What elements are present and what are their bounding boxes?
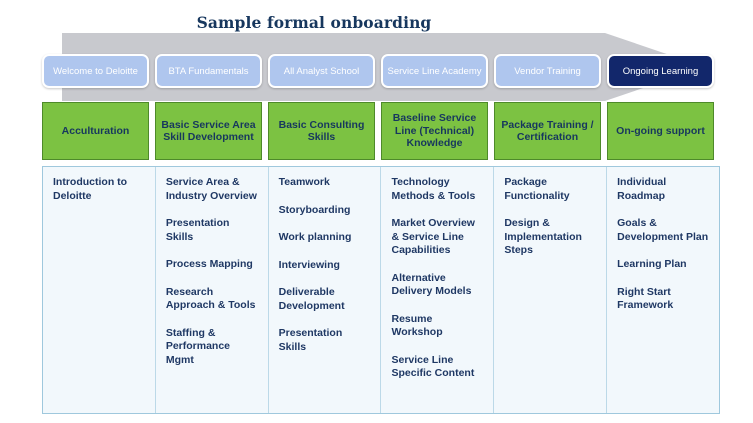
- list-item: Teamwork: [279, 176, 372, 190]
- list-item: Staffing & Performance Mgmt: [166, 327, 259, 368]
- stage-pill-vendor-training[interactable]: Vendor Training: [494, 54, 601, 88]
- list-item: Presentation Skills: [166, 217, 259, 244]
- list-item: Individual Roadmap: [617, 176, 710, 203]
- category-header-baseline-service-line-technical-knowledge: Baseline Service Line (Technical) Knowle…: [381, 102, 488, 160]
- category-header-package-training-certification: Package Training / Certification: [494, 102, 601, 160]
- content-column-3: Teamwork Storyboarding Work planning Int…: [269, 167, 382, 413]
- content-column-6: Individual Roadmap Goals & Development P…: [607, 167, 719, 413]
- category-header-on-going-support: On-going support: [607, 102, 714, 160]
- stage-pill-all-analyst-school[interactable]: All Analyst School: [268, 54, 375, 88]
- list-item: Work planning: [279, 231, 372, 245]
- list-item: Research Approach & Tools: [166, 286, 259, 313]
- category-header-row: Acculturation Basic Service Area Skill D…: [42, 102, 714, 160]
- stage-pill-bta-fundamentals[interactable]: BTA Fundamentals: [155, 54, 262, 88]
- stage-pill-welcome-to-deloitte[interactable]: Welcome to Deloitte: [42, 54, 149, 88]
- list-item: Package Functionality: [504, 176, 597, 203]
- list-item: Market Overview & Service Line Capabilit…: [391, 217, 484, 258]
- list-item: Service Line Specific Content: [391, 354, 484, 381]
- content-column-5: Package Functionality Design & Implement…: [494, 167, 607, 413]
- onboarding-diagram: Sample formal onboarding Welcome to Delo…: [0, 0, 753, 423]
- category-header-basic-service-area-skill-development: Basic Service Area Skill Development: [155, 102, 262, 160]
- list-item: Presentation Skills: [279, 327, 372, 354]
- list-item: Learning Plan: [617, 258, 710, 272]
- list-item: Goals & Development Plan: [617, 217, 710, 244]
- list-item: Right Start Framework: [617, 286, 710, 313]
- category-header-acculturation: Acculturation: [42, 102, 149, 160]
- content-column-4: Technology Methods & Tools Market Overvi…: [381, 167, 494, 413]
- content-column-2: Service Area & Industry Overview Present…: [156, 167, 269, 413]
- list-item: Storyboarding: [279, 204, 372, 218]
- list-item: Interviewing: [279, 259, 372, 273]
- list-item: Design & Implementation Steps: [504, 217, 597, 258]
- list-item: Process Mapping: [166, 258, 259, 272]
- list-item: Alternative Delivery Models: [391, 272, 484, 299]
- content-column-1: Introduction to Deloitte: [43, 167, 156, 413]
- list-item: Deliverable Development: [279, 286, 372, 313]
- list-item: Resume Workshop: [391, 313, 484, 340]
- content-panel: Introduction to Deloitte Service Area & …: [42, 166, 720, 414]
- list-item: Technology Methods & Tools: [391, 176, 484, 203]
- stage-pill-ongoing-learning[interactable]: Ongoing Learning: [607, 54, 714, 88]
- category-header-basic-consulting-skills: Basic Consulting Skills: [268, 102, 375, 160]
- list-item: Service Area & Industry Overview: [166, 176, 259, 203]
- stage-pill-service-line-academy[interactable]: Service Line Academy: [381, 54, 488, 88]
- stage-row: Welcome to Deloitte BTA Fundamentals All…: [42, 54, 714, 88]
- page-title: Sample formal onboarding: [0, 13, 628, 32]
- list-item: Introduction to Deloitte: [53, 176, 146, 203]
